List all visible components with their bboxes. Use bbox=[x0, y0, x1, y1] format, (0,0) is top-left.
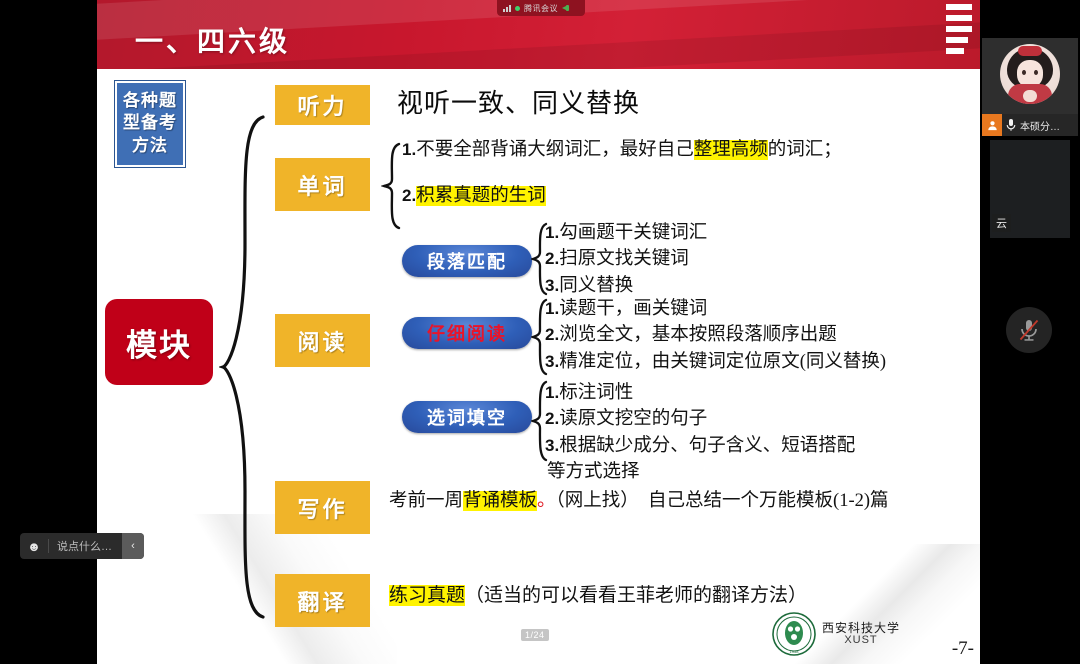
university-logo: 1958 西安科技大学 XUST bbox=[772, 612, 900, 656]
words-item-2: 2.积累真题的生词 bbox=[402, 184, 842, 208]
words-item-1-post: 的词汇； bbox=[768, 140, 842, 160]
writing-highlight: 背诵模板 bbox=[463, 491, 537, 511]
participants-rail: 本硕分… 云 bbox=[980, 0, 1080, 664]
recording-dot-icon bbox=[515, 6, 520, 11]
words-item-2-num: 2. bbox=[402, 186, 416, 205]
item-text: 标注词性 bbox=[559, 383, 633, 403]
participant-tile-1[interactable]: 本硕分… bbox=[982, 38, 1078, 136]
list-item: 1.标注词性 bbox=[545, 381, 855, 405]
words-items: 1.不要全部背诵大纲词汇，最好自己整理高频的词汇； 2.积累真题的生词 bbox=[402, 138, 842, 209]
item-num: 1. bbox=[545, 383, 559, 402]
speaker-icon[interactable] bbox=[562, 4, 570, 12]
writing-text: 考前一周背诵模板。（网上找） 自己总结一个万能模板(1-2)篇 bbox=[389, 489, 889, 513]
list-item: 2.扫原文找关键词 bbox=[545, 247, 707, 271]
outer-brace bbox=[219, 87, 267, 647]
item-num: 3. bbox=[545, 352, 559, 371]
mic-icon bbox=[1005, 118, 1017, 132]
list-item: 2.浏览全文，基本按照段落顺序出题 bbox=[545, 323, 886, 347]
item-text: 根据缺少成分、句子含义、短语搭配 bbox=[559, 436, 855, 456]
chat-input[interactable]: 说点什么… bbox=[49, 533, 122, 559]
category-listening: 听力 bbox=[275, 85, 370, 125]
topic-box-modules: 模块 bbox=[105, 299, 213, 385]
mic-muted-icon[interactable] bbox=[1006, 307, 1052, 353]
avatar bbox=[1000, 44, 1060, 104]
list-item: 1.勾画题干关键词汇 bbox=[545, 221, 707, 245]
slide-page-number: -7- bbox=[952, 638, 974, 660]
item-num: 2. bbox=[545, 409, 559, 428]
chat-input-bar[interactable]: ☻ 说点什么… ‹ bbox=[20, 533, 144, 559]
words-item-2-highlight: 积累真题的生词 bbox=[416, 186, 546, 206]
participant-tile-2[interactable]: 云 bbox=[990, 140, 1070, 238]
item-text: 读题干，画关键词 bbox=[559, 299, 707, 319]
item-text: 同义替换 bbox=[559, 276, 633, 296]
university-seal-icon: 1958 bbox=[772, 612, 816, 656]
slide-body: 各种题型备考方法 模块 听力 单词 阅读 写作 翻译 视听一致、同义替换 bbox=[97, 69, 980, 664]
writing-dot: 。 bbox=[537, 491, 556, 511]
category-reading: 阅读 bbox=[275, 314, 370, 367]
translation-highlight: 练习真题 bbox=[389, 585, 465, 606]
item-num: 3. bbox=[545, 276, 559, 295]
topic-box-methods: 各种题型备考方法 bbox=[115, 81, 185, 167]
meeting-app-name: 腾讯会议 bbox=[524, 3, 558, 14]
participant-name: 本硕分… bbox=[1020, 118, 1060, 133]
reading-pill-paragraph-match: 段落匹配 bbox=[402, 245, 532, 277]
list-item-tail: 等方式选择 bbox=[545, 460, 855, 484]
item-num: 2. bbox=[545, 249, 559, 268]
writing-post: （网上找） 自己总结一个万能模板(1-2)篇 bbox=[556, 491, 889, 511]
words-item-1-highlight: 整理高频 bbox=[694, 140, 768, 160]
list-item: 3.同义替换 bbox=[545, 274, 707, 298]
participant-name-bar: 本硕分… bbox=[982, 114, 1078, 136]
translation-text: 练习真题（适当的可以看看王菲老师的翻译方法） bbox=[389, 583, 807, 608]
words-item-1-pre: 不要全部背诵大纲词汇，最好自己 bbox=[416, 140, 694, 160]
university-name-en: XUST bbox=[822, 635, 900, 647]
reading-items-careful-reading: 1.读题干，画关键词 2.浏览全文，基本按照段落顺序出题 3.精准定位，由关键词… bbox=[545, 297, 886, 374]
presentation-slide: 一、四六级 各种题型备考方法 模块 听力 单词 阅读 写作 翻译 bbox=[97, 0, 980, 664]
participant-name: 云 bbox=[992, 214, 1011, 232]
translation-post: （适当的可以看看王菲老师的翻译方法） bbox=[465, 585, 807, 606]
reading-items-word-fill: 1.标注词性 2.读原文挖空的句子 3.根据缺少成分、句子含义、短语搭配 等方式… bbox=[545, 381, 855, 485]
category-words: 单词 bbox=[275, 158, 370, 211]
smiley-icon[interactable]: ☻ bbox=[20, 533, 48, 559]
listening-heading: 视听一致、同义替换 bbox=[397, 83, 640, 120]
list-item: 3.精准定位，由关键词定位原文(同义替换) bbox=[545, 350, 886, 374]
item-num: 3. bbox=[545, 436, 559, 455]
chevron-left-icon[interactable]: ‹ bbox=[122, 533, 144, 559]
item-text: 精准定位，由关键词定位原文(同义替换) bbox=[559, 352, 886, 372]
list-item: 1.读题干，画关键词 bbox=[545, 297, 886, 321]
category-writing: 写作 bbox=[275, 481, 370, 534]
svg-text:1958: 1958 bbox=[790, 649, 800, 654]
signal-bars-icon bbox=[503, 4, 511, 12]
item-num: 1. bbox=[545, 223, 559, 242]
university-name-cn: 西安科技大学 bbox=[822, 622, 900, 635]
category-translation: 翻译 bbox=[275, 574, 370, 627]
person-icon bbox=[982, 114, 1002, 136]
list-item: 2.读原文挖空的句子 bbox=[545, 407, 855, 431]
words-brace bbox=[381, 141, 403, 231]
item-text: 扫原文找关键词 bbox=[559, 249, 689, 269]
words-item-1: 1.不要全部背诵大纲词汇，最好自己整理高频的词汇； bbox=[402, 138, 842, 162]
slide-page-indicator: 1/24 bbox=[521, 629, 549, 641]
item-text: 勾画题干关键词汇 bbox=[559, 223, 707, 243]
item-num: 2. bbox=[545, 325, 559, 344]
reading-pill-word-fill: 选词填空 bbox=[402, 401, 532, 433]
reading-pill-careful-reading: 仔细阅读 bbox=[402, 317, 532, 349]
meeting-status-pill[interactable]: 腾讯会议 bbox=[497, 0, 585, 16]
list-item: 3.根据缺少成分、句子含义、短语搭配 bbox=[545, 434, 855, 458]
header-stripes-decoration bbox=[946, 4, 972, 54]
screen-root: 腾讯会议 一、四六级 各种题型备考方法 模块 听力 单词 bbox=[0, 0, 1080, 664]
item-text: 浏览全文，基本按照段落顺序出题 bbox=[559, 325, 837, 345]
item-num: 1. bbox=[545, 299, 559, 318]
slide-title: 一、四六级 bbox=[135, 20, 290, 60]
words-item-1-num: 1. bbox=[402, 140, 416, 159]
reading-items-paragraph-match: 1.勾画题干关键词汇 2.扫原文找关键词 3.同义替换 bbox=[545, 221, 707, 298]
writing-pre: 考前一周 bbox=[389, 491, 463, 511]
item-text: 读原文挖空的句子 bbox=[559, 409, 707, 429]
